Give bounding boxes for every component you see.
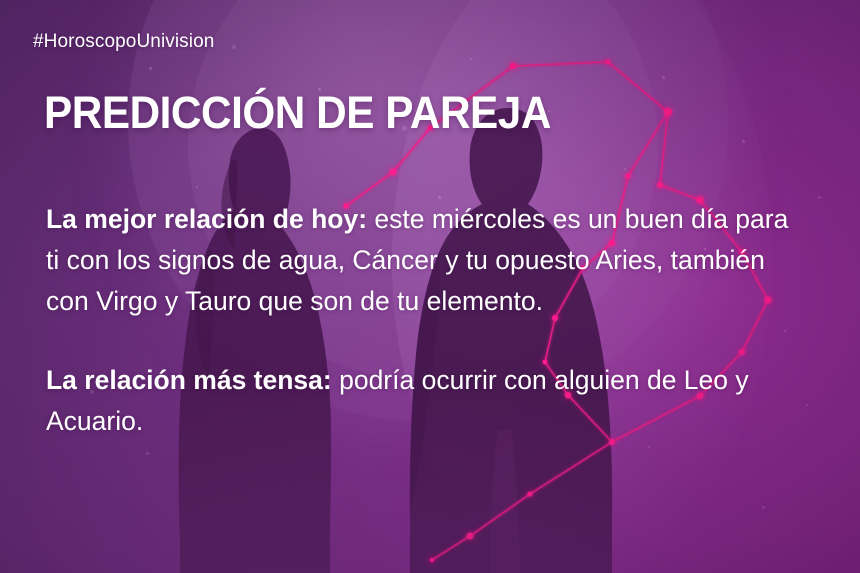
hashtag-label: #HoroscopoUnivision	[33, 31, 214, 53]
paragraph: La mejor relación de hoy: este miércoles…	[46, 199, 798, 322]
card-content: #HoroscopoUnivision PREDICCIÓN DE PAREJA…	[0, 0, 860, 573]
paragraph-lead: La mejor relación de hoy:	[46, 204, 367, 234]
horoscope-card: #HoroscopoUnivision PREDICCIÓN DE PAREJA…	[0, 0, 860, 573]
page-title: PREDICCIÓN DE PAREJA	[44, 90, 551, 135]
paragraph: La relación más tensa: podría ocurrir co…	[46, 360, 798, 442]
paragraph-lead: La relación más tensa:	[46, 365, 332, 395]
prediction-text-block: La mejor relación de hoy: este miércoles…	[46, 199, 798, 442]
